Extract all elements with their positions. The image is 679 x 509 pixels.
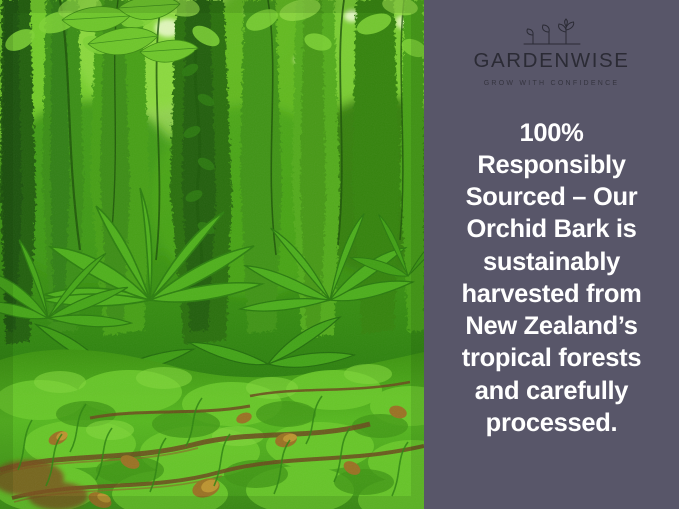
- product-ad-banner: GARDENWISE GROW WITH CONFIDENCE 100% Res…: [0, 0, 679, 509]
- three-sprouts-icon: [519, 18, 585, 48]
- brand-tagline: GROW WITH CONFIDENCE: [484, 80, 620, 87]
- headline-text: 100% Responsibly Sourced – Our Orchid Ba…: [424, 117, 679, 440]
- message-panel: GARDENWISE GROW WITH CONFIDENCE 100% Res…: [424, 0, 679, 509]
- forest-photo: [0, 0, 424, 509]
- brand-logo: GARDENWISE GROW WITH CONFIDENCE: [424, 18, 679, 87]
- brand-wordmark: GARDENWISE: [473, 51, 629, 72]
